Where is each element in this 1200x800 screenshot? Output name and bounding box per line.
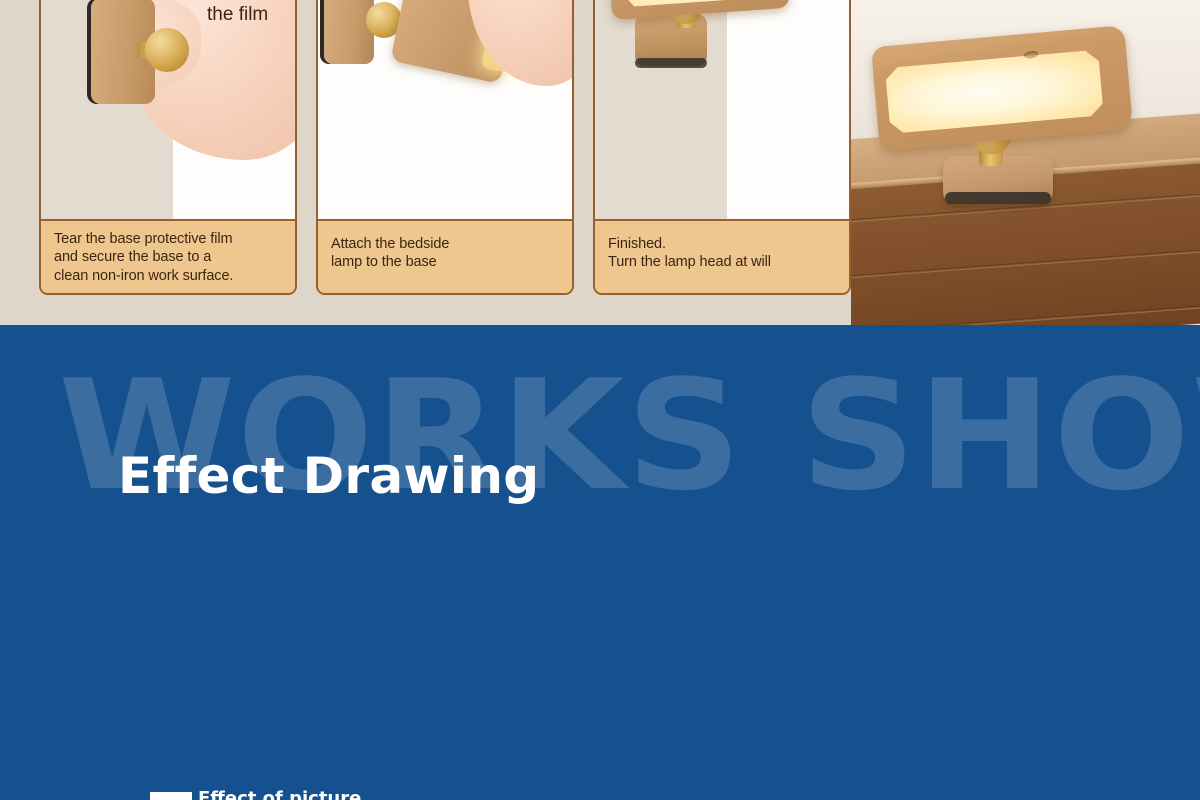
brass-knob <box>145 28 189 72</box>
hero-lamp-product <box>875 28 1175 208</box>
label-accent-bar <box>150 792 192 800</box>
caption-line: Finished. <box>608 235 838 253</box>
caption-line: clean non-iron work surface. <box>54 267 284 285</box>
caption-line: Tear the base protective film <box>54 230 284 248</box>
panel-2-caption: Attach the bedside lamp to the base <box>318 219 572 293</box>
caption-line: and secure the base to a <box>54 248 284 266</box>
wooden-base <box>324 0 374 64</box>
caption-line: Attach the bedside <box>331 235 561 253</box>
lamp-base-pad <box>945 192 1051 204</box>
panel-1-illustration <box>41 0 295 224</box>
lamp-head <box>871 25 1133 151</box>
caption-line: Turn the lamp head at will <box>608 253 838 271</box>
panel-3-illustration <box>595 0 849 224</box>
instruction-panel-2: Magnet Attach the bedside lamp to the ba… <box>316 0 574 295</box>
instruction-section: Tear the base protective film and secure… <box>0 0 1200 325</box>
footer-label-text: Effect of picture <box>198 788 361 800</box>
panel-1-caption: Tear the base protective film and secure… <box>41 219 295 293</box>
effect-of-picture-label: Effect of picture <box>150 788 361 800</box>
panel-3-right-backdrop <box>727 0 849 224</box>
instruction-panel-3: Finished. Turn the lamp head at will <box>593 0 851 295</box>
works-show-section: WORKS SHOW Effect Drawing Effect of pict… <box>0 325 1200 800</box>
remove-film-text: Remove the film <box>207 0 278 27</box>
hero-product-photo <box>851 0 1200 325</box>
caption-line: lamp to the base <box>331 253 561 271</box>
panel-3-caption: Finished. Turn the lamp head at will <box>595 219 849 293</box>
lamp-light-panel <box>885 49 1104 133</box>
lamp-light-panel <box>622 0 773 7</box>
base-pad <box>635 58 707 68</box>
effect-drawing-heading: Effect Drawing <box>118 447 539 505</box>
instruction-panel-1: Tear the base protective film and secure… <box>39 0 297 295</box>
panel-2-illustration: Magnet <box>318 0 572 224</box>
